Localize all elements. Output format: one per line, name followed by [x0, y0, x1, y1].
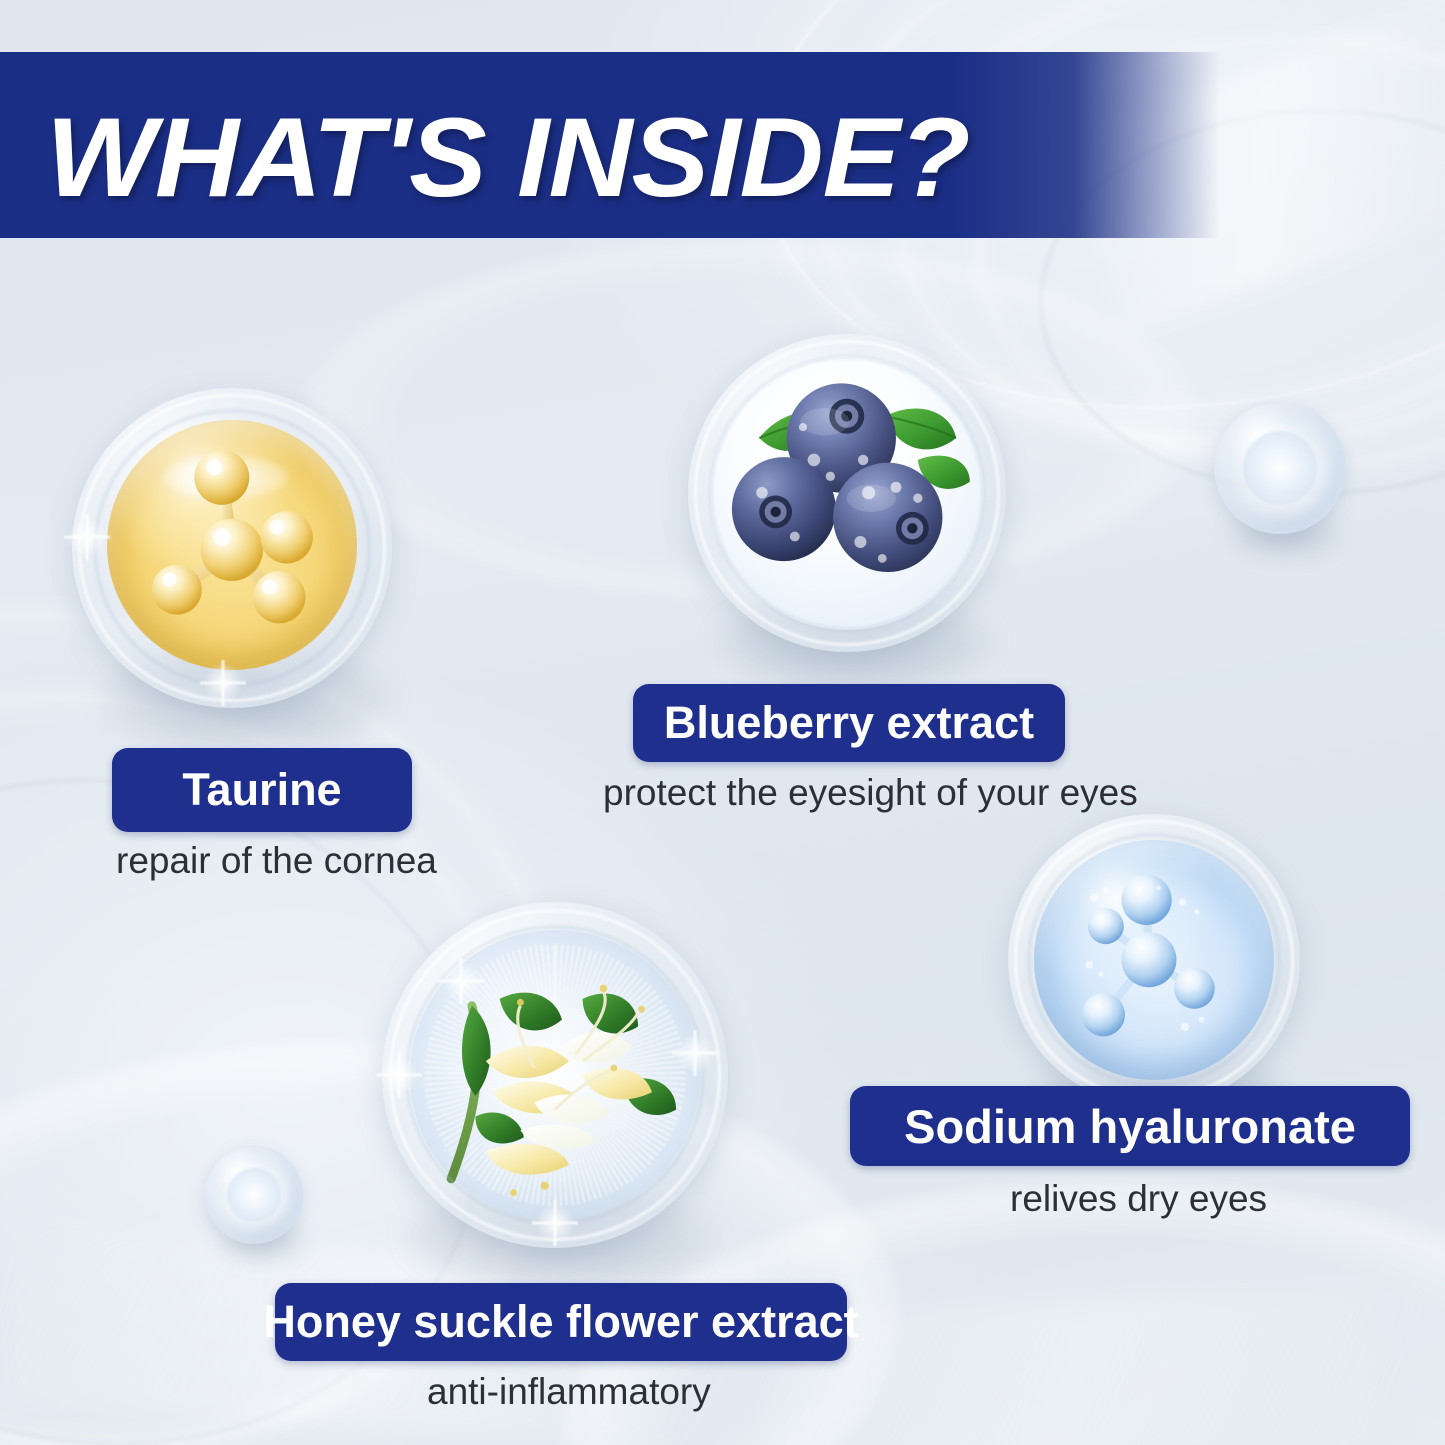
ingredient-benefit-sodium-hyaluronate: relives dry eyes: [1010, 1178, 1267, 1220]
ingredient-badge-taurine[interactable]: Taurine: [112, 748, 412, 832]
honeysuckle-droplet: [382, 902, 728, 1248]
ingredient-benefit-blueberry: protect the eyesight of your eyes: [603, 772, 1138, 814]
ingredient-benefit-taurine: repair of the cornea: [116, 840, 437, 882]
ingredient-benefit-honeysuckle: anti-inflammatory: [427, 1371, 711, 1413]
droplet-inner-rim: [406, 926, 704, 1224]
droplet-center: [1243, 431, 1317, 505]
taurine-droplet: [72, 388, 392, 708]
page-title: WHAT'S INSIDE?: [46, 102, 969, 214]
ingredient-badge-honeysuckle[interactable]: Honey suckle flower extract: [275, 1283, 847, 1361]
droplet-inner-rim: [94, 410, 369, 685]
decorative-water-droplet: [205, 1146, 303, 1244]
droplet-inner-rim: [1028, 834, 1279, 1085]
blueberry-droplet: [688, 334, 1006, 652]
droplet-inner-rim: [710, 356, 984, 630]
decorative-water-droplet: [1214, 402, 1346, 534]
ingredient-badge-sodium-hyaluronate[interactable]: Sodium hyaluronate: [850, 1086, 1410, 1166]
infographic-page: WHAT'S INSIDE?: [0, 0, 1445, 1445]
ingredient-badge-blueberry[interactable]: Blueberry extract: [633, 684, 1065, 762]
sodium-hyaluronate-droplet: [1008, 814, 1300, 1106]
header-banner: WHAT'S INSIDE?: [0, 52, 1220, 238]
